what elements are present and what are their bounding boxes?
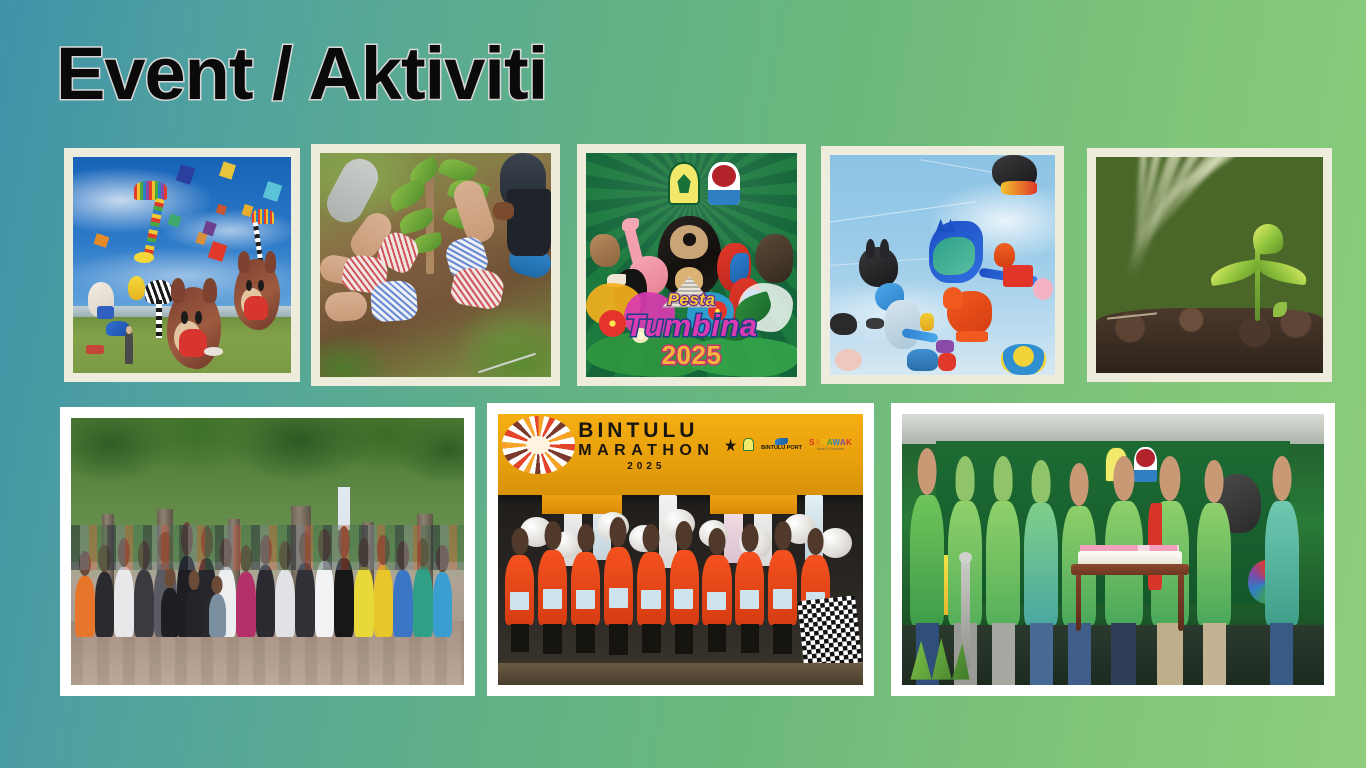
person-figure	[256, 565, 276, 637]
cake-table	[1071, 550, 1189, 631]
marathon-title-line1: BINTULU	[578, 420, 714, 441]
person-figure	[374, 565, 394, 637]
sprout-leaf-left	[1208, 259, 1261, 287]
sponsor-bintulu-port-label: BINTULU PORT	[761, 445, 802, 451]
photo-frame-pesta-tumbina[interactable]: Pesta Tumbina 2025	[577, 144, 806, 386]
photo-frame-cake-cutting[interactable]: O	[891, 403, 1335, 696]
person-figure	[393, 570, 413, 637]
sprout-leaf-right	[1256, 259, 1308, 285]
kite-icon	[866, 318, 884, 329]
kite-icon	[128, 276, 145, 300]
runner-figure	[735, 552, 764, 625]
person-figure	[413, 567, 433, 637]
kite-icon	[920, 313, 934, 331]
photo-bintulu-marathon: BINTULU MARATHON 2025 BINTULU PORT SARAW…	[498, 414, 863, 685]
person-figure	[134, 570, 154, 637]
person-figure	[315, 561, 335, 637]
kite-icon	[1033, 278, 1053, 300]
hornbill-emblem-icon	[725, 438, 736, 451]
grass-patch	[459, 319, 551, 377]
stanchion-ball	[959, 552, 973, 563]
smiley-kite-icon	[134, 252, 154, 263]
runner-figure	[505, 555, 534, 625]
park-signboard	[338, 487, 350, 530]
photo-frame-kites-sky[interactable]	[821, 146, 1064, 384]
dinosaur-kite-head	[943, 287, 963, 309]
person-figure	[236, 572, 256, 637]
glove-icon	[369, 279, 418, 322]
person-figure-child	[185, 590, 203, 637]
person-figure	[295, 563, 315, 637]
bear-balloon-body	[97, 306, 114, 319]
road-surface	[498, 663, 863, 685]
runner-figure	[571, 552, 600, 625]
glove-icon	[449, 265, 506, 311]
kite-icon	[884, 300, 920, 348]
runner-figure	[604, 547, 633, 626]
kite-icon	[936, 340, 954, 353]
person-figure	[354, 567, 374, 637]
table-leg	[1076, 574, 1082, 631]
shoe	[493, 202, 514, 220]
marathon-title-line2: MARATHON	[578, 443, 714, 459]
runner-figure	[670, 550, 699, 626]
table-leg	[1178, 574, 1184, 631]
bag	[507, 189, 551, 256]
kite-icon	[907, 349, 939, 371]
official-figure	[1265, 501, 1299, 626]
kite-icon	[994, 243, 1014, 267]
person-head	[126, 326, 132, 335]
chipmunk-balloon-icon	[167, 287, 222, 369]
sponsor-sarawak-tagline: More To Discover	[817, 447, 844, 451]
kite-tail	[156, 300, 163, 339]
kite-icon	[1003, 265, 1032, 287]
person-figure	[75, 576, 95, 637]
photo-frame-tree-planting[interactable]	[311, 144, 560, 386]
arch-signage	[710, 495, 798, 514]
tent-ceiling	[902, 414, 1324, 444]
deer-icon	[755, 234, 793, 283]
arm	[324, 290, 368, 322]
person-figure	[433, 572, 453, 637]
runner-figure	[702, 555, 731, 625]
photo-frame-kite-festival[interactable]	[64, 148, 300, 382]
person-figure	[95, 572, 115, 637]
sprout-leaf-top	[1251, 223, 1283, 256]
crowd-back-rows	[71, 525, 464, 570]
rabbit-kite-icon	[859, 247, 897, 287]
photo-frame-bintulu-marathon[interactable]: BINTULU MARATHON 2025 BINTULU PORT SARAW…	[487, 403, 874, 696]
kite-icon	[938, 353, 956, 371]
person-figure	[334, 558, 354, 636]
photo-kite-festival-field	[73, 157, 291, 373]
rabbit-ear-icon	[880, 239, 889, 259]
table-top	[1071, 564, 1189, 575]
runner-figure	[637, 552, 666, 625]
kite-tail	[1001, 181, 1037, 194]
balloon-icon	[819, 528, 852, 558]
photo-seedling-soil	[1096, 157, 1323, 373]
person-figure	[275, 570, 295, 637]
photo-community-group	[71, 418, 464, 685]
department-logo-icon	[1134, 447, 1157, 482]
marathon-title-year: 2025	[578, 462, 714, 472]
kite-icon	[134, 181, 167, 200]
kite-icon	[830, 313, 857, 335]
animal-icon	[590, 234, 620, 268]
photo-frame-seedling[interactable]	[1087, 148, 1332, 382]
person-figure	[114, 567, 134, 637]
ground-object	[86, 345, 103, 354]
poster-line-tumbina: Tumbina	[586, 308, 797, 344]
official-figure	[1024, 503, 1058, 625]
official-figure	[910, 495, 944, 625]
grass-patch	[320, 332, 394, 377]
runner-figure	[768, 550, 797, 626]
soil-mound	[1096, 308, 1323, 373]
official-figure	[1197, 503, 1231, 625]
photo-cake-cutting: O	[902, 414, 1324, 685]
poster-line-year: 2025	[586, 340, 797, 371]
runner-figure	[538, 550, 567, 626]
photo-tree-planting	[320, 153, 551, 377]
official-figure	[986, 501, 1020, 626]
crowd-group	[71, 525, 464, 637]
slide-canvas: Event / Aktiviti	[0, 0, 1366, 768]
photo-frame-community-group[interactable]	[60, 407, 475, 696]
leaf-icon	[386, 178, 429, 213]
ground-object	[204, 347, 224, 356]
sunburst-logo-icon	[502, 416, 575, 475]
photo-kites-sky	[830, 155, 1055, 375]
sponsor-sarawak-label: SARAWAK	[809, 438, 852, 447]
page-title: Event / Aktiviti	[56, 37, 547, 111]
sponsor-logos: BINTULU PORT SARAWAK More To Discover	[725, 438, 852, 451]
photo-pesta-tumbina-poster: Pesta Tumbina 2025	[586, 153, 797, 377]
marathon-title-block: BINTULU MARATHON 2025	[578, 420, 714, 472]
council-logo-icon	[743, 438, 754, 451]
dinosaur-kite-legs	[956, 331, 988, 342]
kite-icon	[835, 349, 862, 371]
person-figure-child	[209, 594, 227, 637]
rabbit-ear-icon	[866, 239, 875, 259]
chipmunk-balloon-icon	[234, 259, 280, 330]
bintulu-port-mark-icon	[775, 438, 788, 445]
marathon-arch: BINTULU MARATHON 2025 BINTULU PORT SARAW…	[498, 414, 863, 495]
person-figure	[125, 330, 133, 365]
kite-icon	[1001, 344, 1046, 375]
department-logo-icon	[708, 162, 740, 205]
person-figure-child	[161, 588, 179, 637]
crest-logo-icon	[668, 162, 700, 205]
